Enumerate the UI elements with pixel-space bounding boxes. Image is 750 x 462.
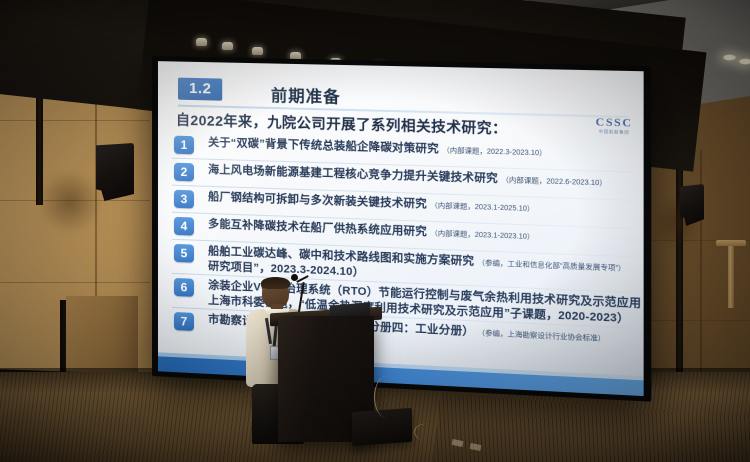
pot-light-icon [222,42,233,50]
item-number-badge: 7 [174,312,194,331]
pot-light-icon [196,38,207,46]
presenter-hair [261,277,290,289]
item-number-badge: 6 [174,278,194,297]
led-presentation-screen: 1.2 前期准备 CSSC 中国船舶集团 自2022年来，九院公司开展了系列相关… [152,56,651,402]
item-number-badge: 1 [174,136,194,155]
item-number-badge: 3 [174,190,194,209]
item-title: 多能互补降碳技术在船厂供热系统应用研究 [208,218,427,238]
floor-cable [374,376,399,418]
item-number-badge: 2 [174,163,194,182]
item-number-badge: 4 [174,217,194,236]
wood-stand-post [728,246,734,308]
item-number-badge: 5 [174,244,194,263]
item-note: （内部课题，2023.1-2023.10） [430,230,534,241]
downlight-icon [722,54,737,61]
wall-seam [0,282,150,283]
slide-title: 前期准备 [271,82,341,108]
item-title: 关于“双碳”背景下传统总装船企降碳对策研究 [208,137,439,156]
wall-seam [645,320,750,321]
pot-light-icon [252,47,263,55]
item-note: （内部课题，2023.1-2025.10） [430,202,534,213]
item-note: （内部课题，2022.6-2023.10） [501,177,606,188]
downlight-icon [738,58,750,65]
wall-seam [0,120,150,121]
conference-presentation-photo: 1.2 前期准备 CSSC 中国船舶集团 自2022年来，九院公司开展了系列相关… [0,0,750,462]
item-note: （参编，上海勘察设计行业协会标准） [478,330,606,343]
downlight-rim [700,46,709,51]
item-title: 船厂钢结构可拆卸与多次新装关键技术研究 [208,191,427,211]
item-note: （内部课题，2022.3-2023.10） [442,147,546,157]
research-item-list: 1 关于“双碳”背景下传统总装船企降碳对策研究 （内部课题，2022.3-202… [172,134,635,359]
speaker-shadow [38,170,102,234]
slide-surface: 1.2 前期准备 CSSC 中国船舶集团 自2022年来，九院公司开展了系列相关… [158,61,644,396]
item-note: （参编，工业和信息化部“高质量发展专项”） [478,260,626,273]
section-number-badge: 1.2 [178,78,223,101]
